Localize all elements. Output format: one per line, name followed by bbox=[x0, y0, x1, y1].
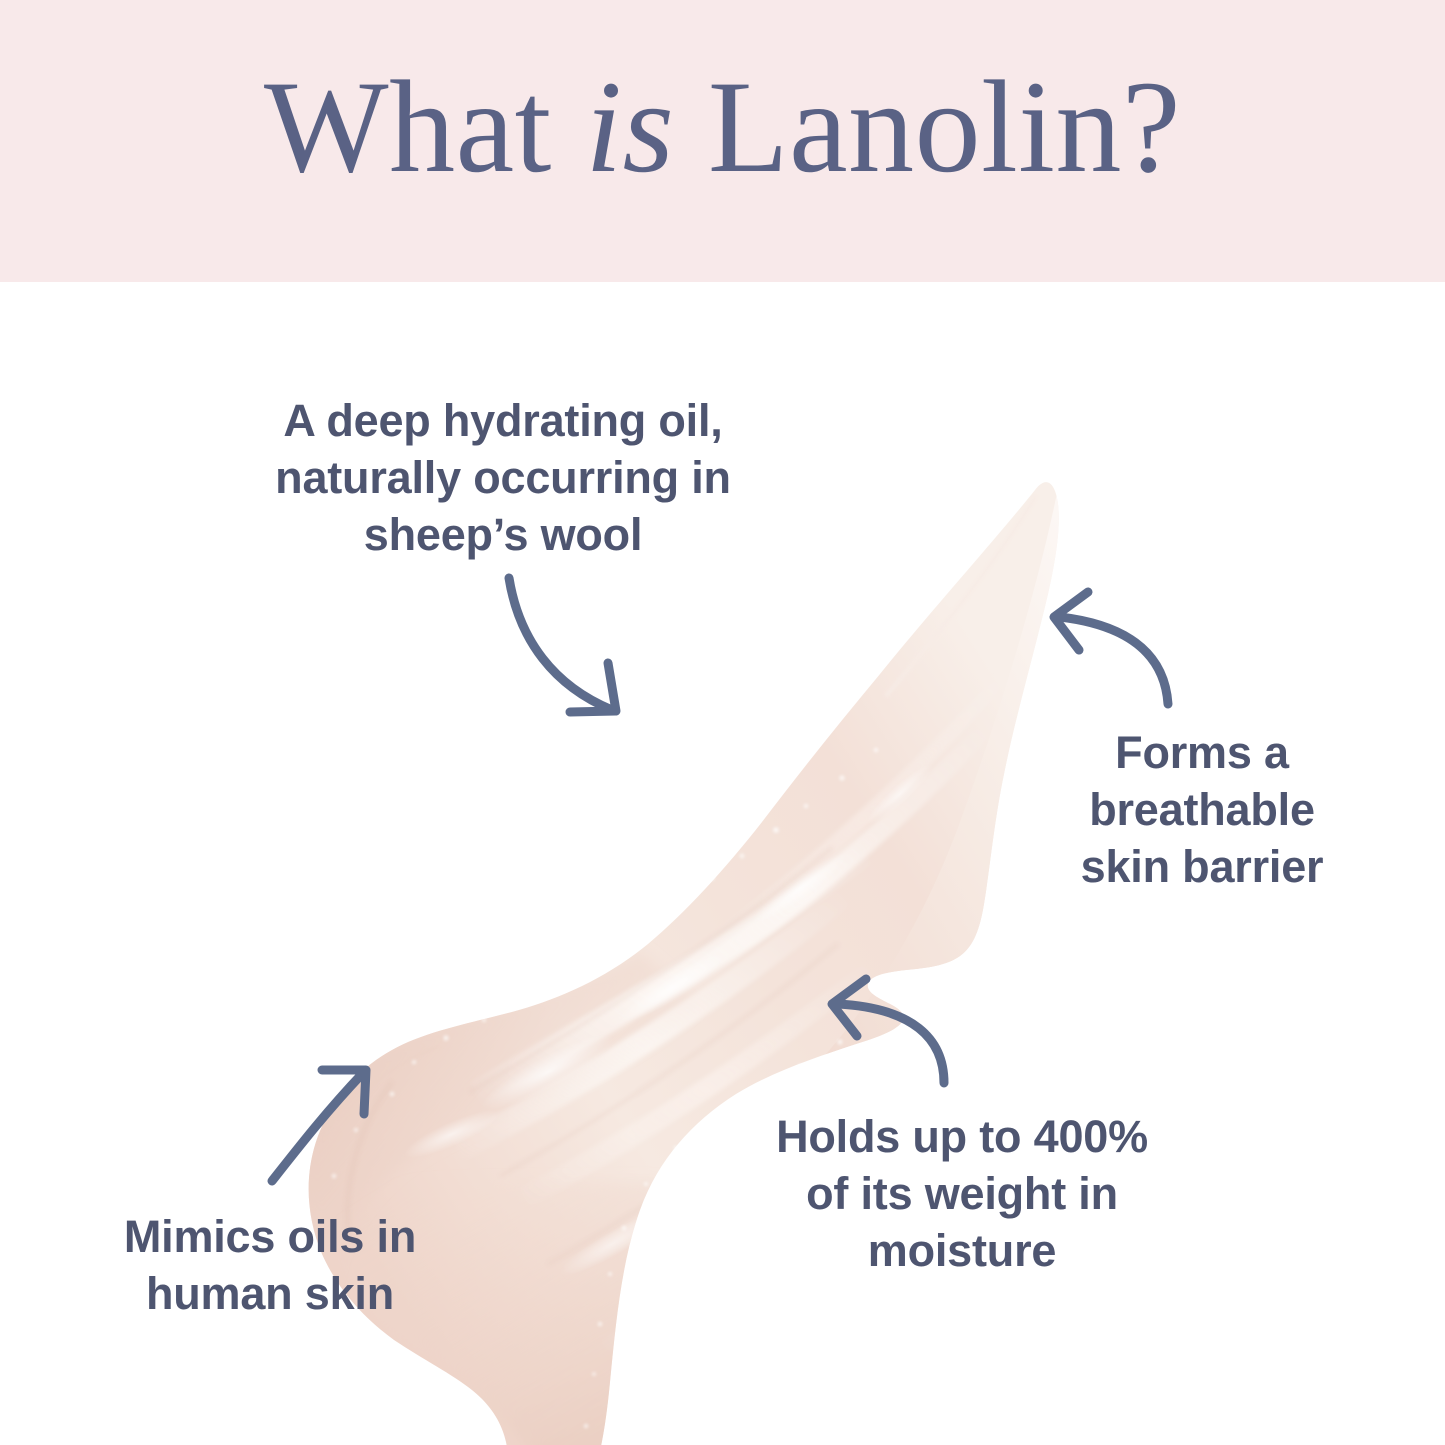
callout-line: sheep’s wool bbox=[188, 506, 818, 563]
callout-mimics-human-skin-oils: Mimics oils in human skin bbox=[60, 1208, 480, 1322]
callout-line: moisture bbox=[692, 1222, 1232, 1279]
callout-holds-moisture: Holds up to 400% of its weight in moistu… bbox=[692, 1108, 1232, 1279]
callout-deep-hydrating-oil: A deep hydrating oil, naturally occurrin… bbox=[188, 392, 818, 563]
callout-line: skin barrier bbox=[1012, 838, 1392, 895]
page-title-part1: What bbox=[264, 53, 585, 200]
page-title: What is Lanolin? bbox=[0, 52, 1445, 202]
callout-line: breathable bbox=[1012, 781, 1392, 838]
callout-line: A deep hydrating oil, bbox=[188, 392, 818, 449]
callout-line: human skin bbox=[60, 1265, 480, 1322]
callout-line: Holds up to 400% bbox=[692, 1108, 1232, 1165]
callout-line: of its weight in bbox=[692, 1165, 1232, 1222]
callout-line: Forms a bbox=[1012, 724, 1392, 781]
infographic-canvas: What is Lanolin? bbox=[0, 0, 1445, 1445]
callout-breathable-skin-barrier: Forms a breathable skin barrier bbox=[1012, 724, 1392, 895]
callout-line: naturally occurring in bbox=[188, 449, 818, 506]
callout-line: Mimics oils in bbox=[60, 1208, 480, 1265]
page-title-emphasis: is bbox=[585, 53, 674, 200]
page-title-part2: Lanolin? bbox=[674, 53, 1181, 200]
